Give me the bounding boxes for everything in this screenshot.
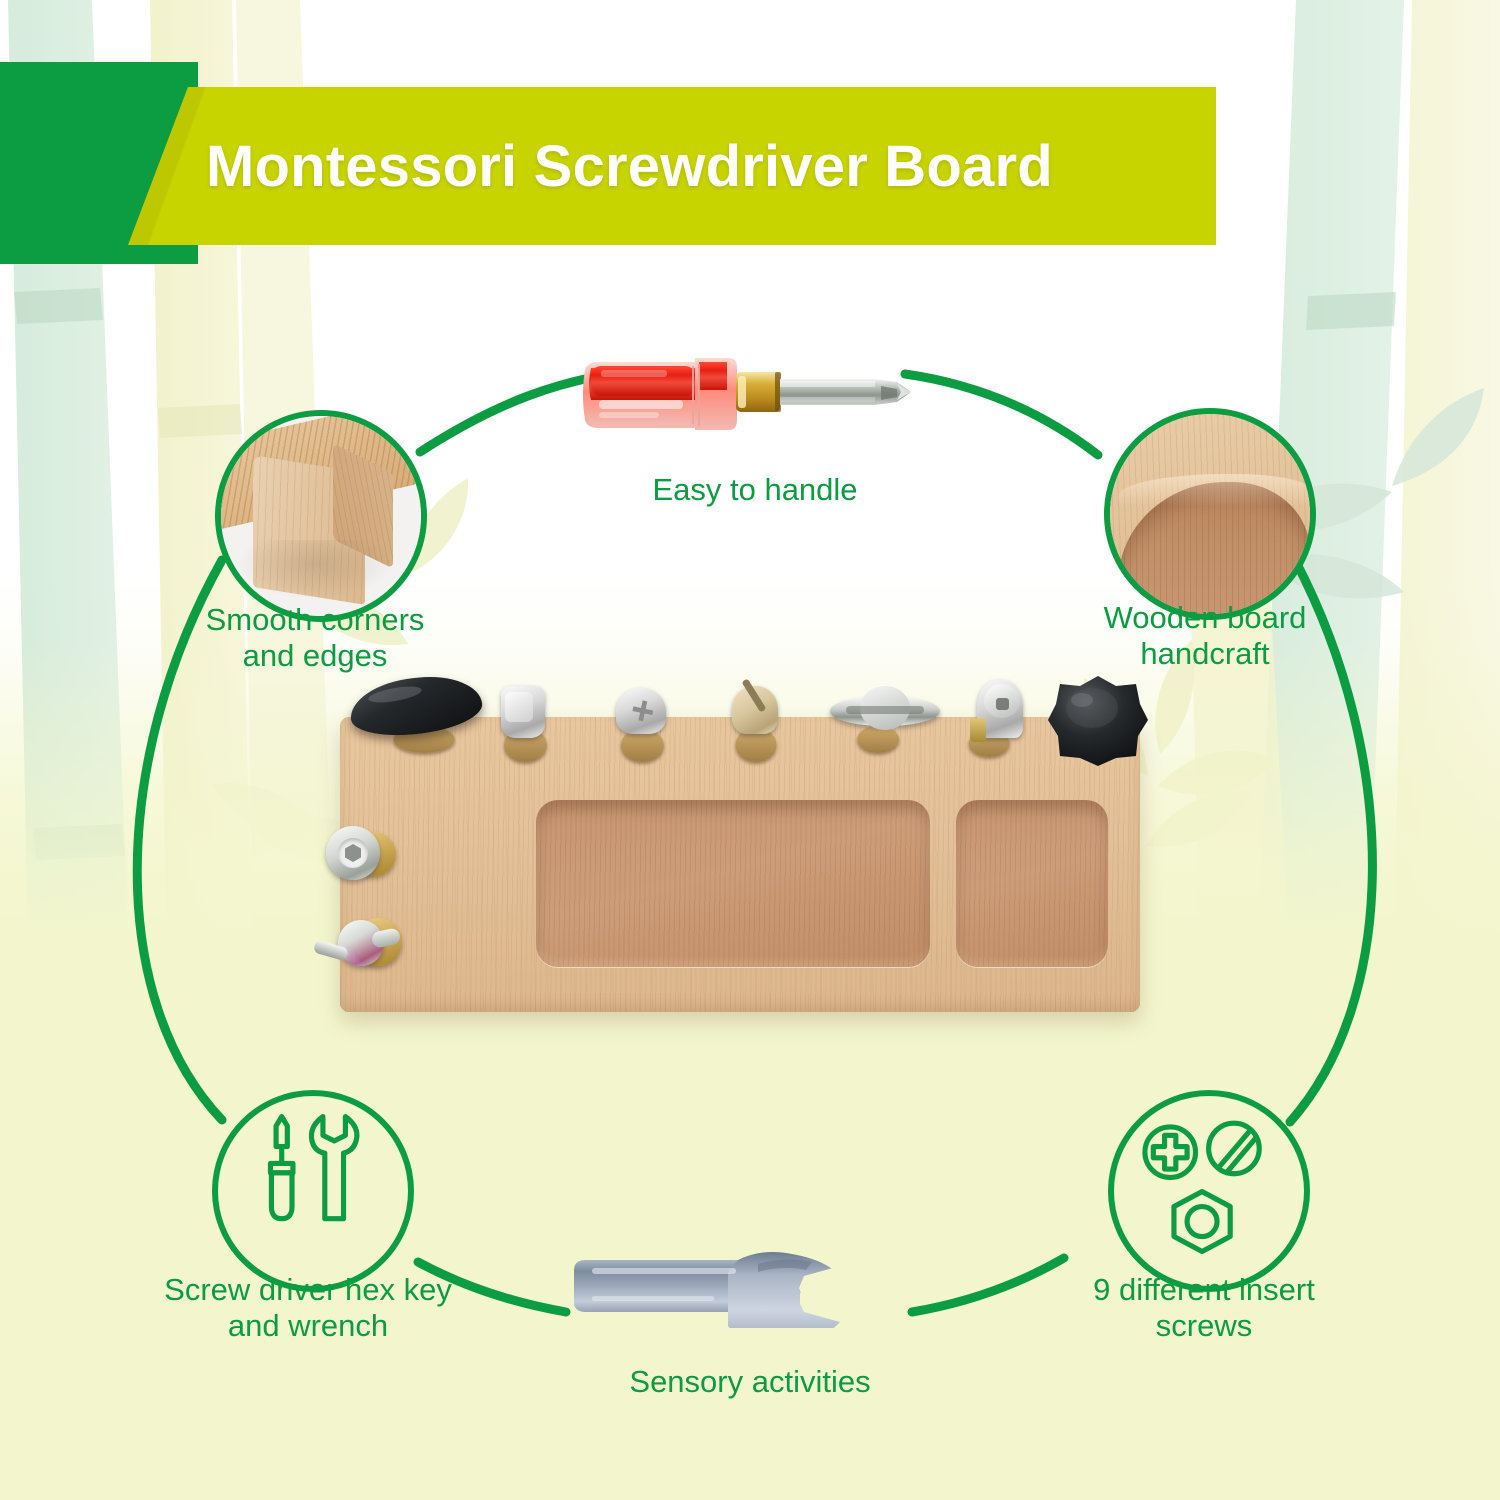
feature-circle-smooth-corners bbox=[215, 410, 427, 622]
metal-wrench-photo bbox=[568, 1248, 898, 1328]
caption-line-2: screws bbox=[1018, 1308, 1390, 1344]
caption-line-1: Wooden board bbox=[1040, 600, 1370, 636]
fastener-wing-nut bbox=[830, 682, 940, 758]
caption-line-1: Smooth corners bbox=[150, 602, 480, 638]
caption-nine-insert-screws: 9 different insert screws bbox=[1018, 1272, 1390, 1344]
fastener-hex-socket-screw bbox=[322, 824, 400, 886]
caption-line-1: Sensory activities bbox=[560, 1364, 940, 1400]
caption-line-1: 9 different insert bbox=[1018, 1272, 1390, 1308]
caption-line-2: and wrench bbox=[122, 1308, 494, 1344]
caption-screwdriver-hex-key-wrench: Screw driver hex key and wrench bbox=[122, 1272, 494, 1344]
caption-line-1: Screw driver hex key bbox=[122, 1272, 494, 1308]
phillips-cross-slot bbox=[628, 696, 658, 726]
feature-circle-screwdriver-hex-key-wrench bbox=[212, 1090, 414, 1292]
board-recess-large bbox=[536, 800, 930, 967]
board-recess-small bbox=[956, 800, 1108, 967]
caption-line-2: handcraft bbox=[1040, 636, 1370, 672]
screw-heads-icon bbox=[1114, 1096, 1292, 1274]
product-board-photo bbox=[300, 672, 1170, 1062]
fastener-slotted-screw bbox=[724, 686, 786, 758]
caption-sensory-activities: Sensory activities bbox=[560, 1364, 940, 1400]
caption-line-2: and edges bbox=[150, 638, 480, 674]
star-knob-shape bbox=[1046, 674, 1150, 768]
fastener-black-star-knob bbox=[1046, 674, 1150, 768]
infographic-canvas: Montessori Screwdriver Board Smoot bbox=[0, 0, 1500, 1500]
hex-socket-slot bbox=[343, 843, 363, 863]
feature-circle-wooden-board-handcraft bbox=[1104, 408, 1316, 620]
red-screwdriver-photo bbox=[575, 348, 935, 440]
fastener-hex-cap-bolt bbox=[962, 680, 1030, 760]
page-title: Montessori Screwdriver Board bbox=[128, 87, 1216, 245]
screwdriver-wrench-icon bbox=[218, 1096, 396, 1274]
caption-smooth-corners: Smooth corners and edges bbox=[150, 602, 480, 674]
feature-circle-nine-insert-screws bbox=[1108, 1090, 1310, 1292]
caption-easy-to-handle: Easy to handle bbox=[570, 472, 940, 508]
caption-wooden-board-handcraft: Wooden board handcraft bbox=[1040, 600, 1370, 672]
fastener-black-oval-knob bbox=[350, 678, 482, 756]
fastener-hex-bolt bbox=[492, 686, 554, 758]
caption-line-1: Easy to handle bbox=[570, 472, 940, 508]
wood-corner-photo bbox=[221, 416, 421, 616]
fastener-phillips-screw bbox=[608, 688, 674, 758]
fastener-lever-wing-screw bbox=[314, 914, 410, 978]
wood-recess-photo bbox=[1110, 414, 1310, 614]
